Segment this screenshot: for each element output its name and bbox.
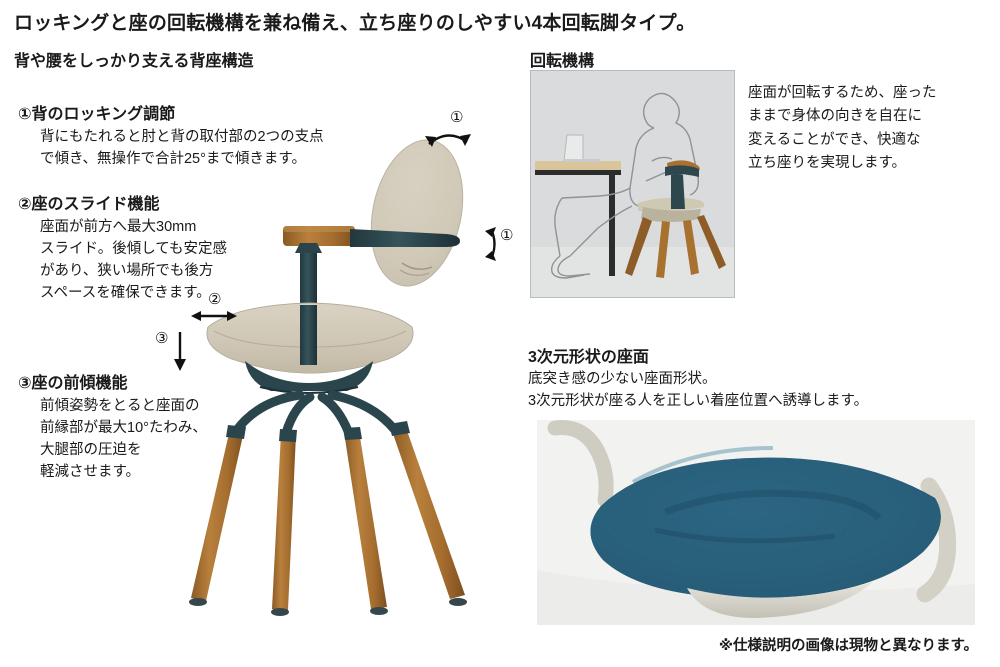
photo-seat-closeup xyxy=(537,420,975,625)
rotation-line: 座面が回転するため、座った xyxy=(748,82,992,105)
spec-sheet-page: ロッキングと座の回転機構を兼ね備え、立ち座りのしやすい4本回転脚タイプ。 背や腰… xyxy=(0,0,1000,667)
chair-leg-spider xyxy=(236,395,394,433)
seat-3d-line: 3次元形状が座る人を正しい着座位置へ誘導します。 xyxy=(528,391,988,413)
seat-3d-section: 3次元形状の座面 底突き感の少ない座面形状。 3次元形状が座る人を正しい着座位置… xyxy=(528,348,988,412)
rotation-scene-illustration xyxy=(531,71,734,297)
callout-marker-back-rocking-top: ① xyxy=(450,110,463,125)
rotation-line: 立ち座りを実現します。 xyxy=(748,152,992,175)
rotation-description: 座面が回転するため、座った ままで身体の向きを自在に 変えることができ、快適な … xyxy=(748,82,992,176)
seat-3d-title: 3次元形状の座面 xyxy=(528,348,988,369)
photo-rotation-mechanism xyxy=(530,70,735,298)
chair-center-column xyxy=(300,305,317,365)
rotation-line: 変えることができ、快適な xyxy=(748,129,992,152)
horizontal-double-arrow-icon-seat-slide xyxy=(190,308,238,324)
seat-3d-body: 底突き感の少ない座面形状。 3次元形状が座る人を正しい着座位置へ誘導します。 xyxy=(528,369,988,413)
section-heading-back-seat-structure: 背や腰をしっかり支える背座構造 xyxy=(14,47,254,71)
rotation-line: ままで身体の向きを自在に xyxy=(748,105,992,128)
double-arrow-icon-rocking-top xyxy=(423,126,473,150)
page-title: ロッキングと座の回転機構を兼ね備え、立ち座りのしやすい4本回転脚タイプ。 xyxy=(14,8,695,35)
chair-backrest xyxy=(359,131,476,294)
section-heading-rotation-mechanism: 回転機構 xyxy=(530,47,594,71)
chair-illustration xyxy=(150,95,530,635)
disclaimer-note: ※仕様説明の画像は現物と異なります。 xyxy=(719,634,978,655)
seat-closeup-illustration xyxy=(537,420,975,625)
down-arrow-icon-seat-tilt xyxy=(172,330,188,372)
callout-marker-seat-slide: ② xyxy=(208,292,221,307)
chair-wooden-legs xyxy=(189,421,467,616)
callout-marker-seat-tilt: ③ xyxy=(155,331,168,346)
callout-marker-back-rocking-arm: ① xyxy=(500,228,513,243)
double-arrow-icon-rocking-arm xyxy=(480,222,502,266)
seat-3d-line: 底突き感の少ない座面形状。 xyxy=(528,369,988,391)
